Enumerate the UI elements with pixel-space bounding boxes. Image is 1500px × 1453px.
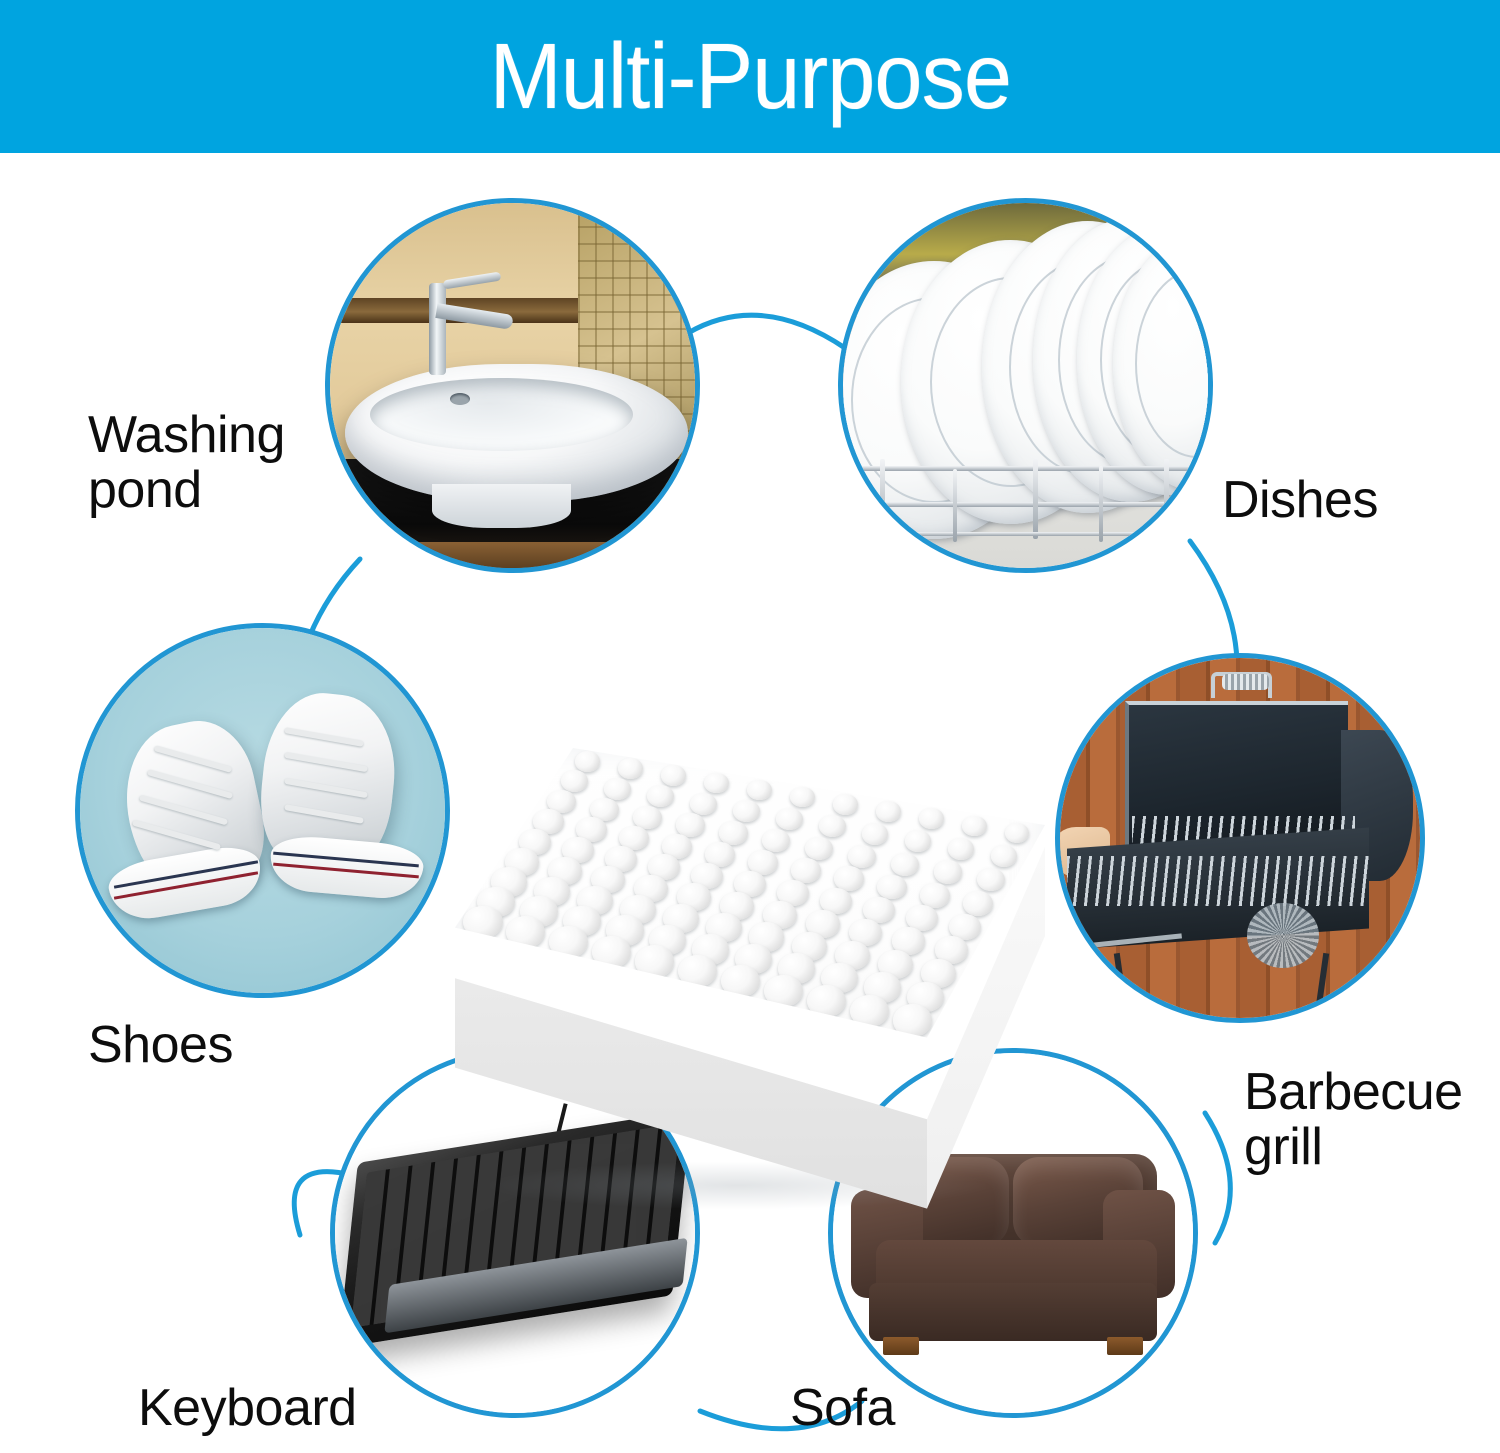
sponge-dimple [747,780,772,800]
label-dishes: Dishes [1222,473,1482,528]
dishes-photo [843,203,1208,568]
sponge-dimple [919,808,944,828]
sponge-dimple [1005,823,1030,843]
sponge-dimple [905,830,932,852]
bubble-dishes[interactable] [838,198,1213,573]
connector-sink-dishes [688,315,845,348]
label-barbecue-grill: Barbecue grill [1244,1065,1500,1175]
label-keyboard: Keyboard [138,1381,468,1436]
sponge-dimple [877,875,907,900]
infographic-page: Multi-Purpose [0,0,1500,1453]
label-washing-pond: Washing pond [88,408,338,518]
sponge-dimple [618,758,643,778]
sponge-dimple [848,845,876,868]
sponge-dimple [463,906,502,938]
sponge-dimple [790,787,815,807]
sponge-dimple [678,955,717,987]
sponge-dimple [764,975,803,1007]
diagram-stage: Washing pond [0,153,1500,1453]
bubble-shoes[interactable] [75,623,450,998]
label-shoes: Shoes [88,1018,318,1073]
sponge-dimple [891,853,919,876]
sponge-dimple [920,883,950,908]
sponge-dimple [733,800,760,822]
sponge-dimple [805,837,833,860]
sponge-dimple [977,868,1005,891]
sponge-dimple [561,770,588,792]
sponge-dimple [549,926,588,958]
grill-photo [1060,658,1420,1018]
sponge-dimple [934,860,962,883]
bubble-barbecue-grill[interactable] [1055,653,1425,1023]
sponge-dimple [506,916,545,948]
sponge-dimple [704,773,729,793]
sponge-dimple [647,785,674,807]
sponge-dimple [676,813,704,836]
header-banner: Multi-Purpose [0,0,1500,153]
sponge-dimple [819,815,846,837]
sponge-dimple [962,816,987,836]
sink-photo [330,203,695,568]
bubble-washing-pond[interactable] [325,198,700,573]
shoes-photo [80,628,445,993]
sponge-dimple [762,829,790,852]
page-title: Multi-Purpose [489,30,1010,123]
connector-grill-sofa [1205,1113,1230,1243]
sponge-dimple [876,801,901,821]
label-sofa: Sofa [790,1381,1010,1436]
sponge-dimple [833,794,858,814]
sponge-dimple [776,808,803,830]
sponge-dimple [893,1004,932,1036]
sponge-dimple [719,821,747,844]
center-product-image [455,748,1045,1218]
sponge-dimple [635,945,674,977]
sponge-dimple [991,845,1018,867]
sponge-dimple [963,891,993,916]
sponge-dimple [592,936,631,968]
sponge-dimple [604,778,631,800]
sponge-dimple [807,985,846,1017]
sponge-dimple [948,838,975,860]
sponge-dimple [690,793,717,815]
sponge-dimple [862,823,889,845]
sponge-dimple [721,965,760,997]
sponge-dimple [661,765,686,785]
sponge-dimple [850,995,889,1027]
sponge-dimple [575,751,600,771]
